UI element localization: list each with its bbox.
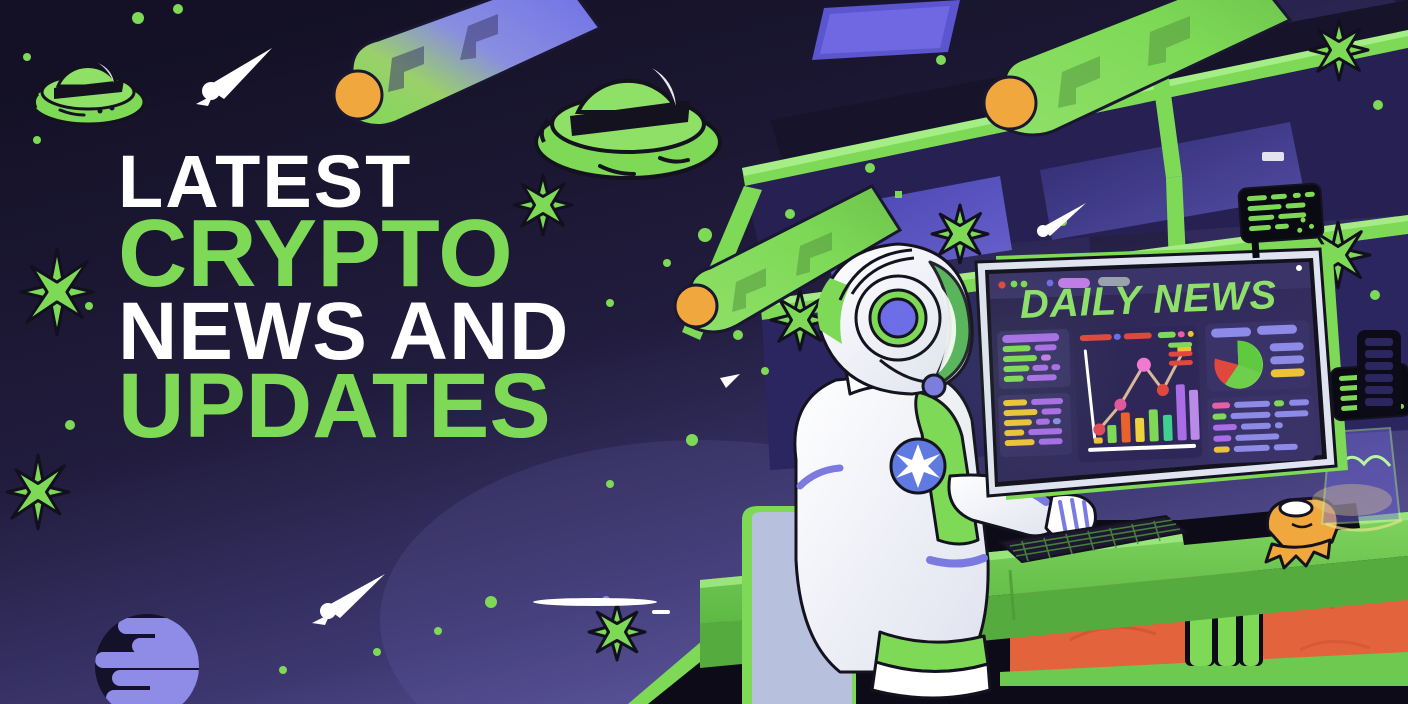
vent-module (1357, 330, 1401, 416)
illustration-scene: LATEST CRYPTO NEWS AND UPDATES DAILY NEW… (0, 0, 1408, 704)
scene-artwork (0, 0, 1408, 704)
